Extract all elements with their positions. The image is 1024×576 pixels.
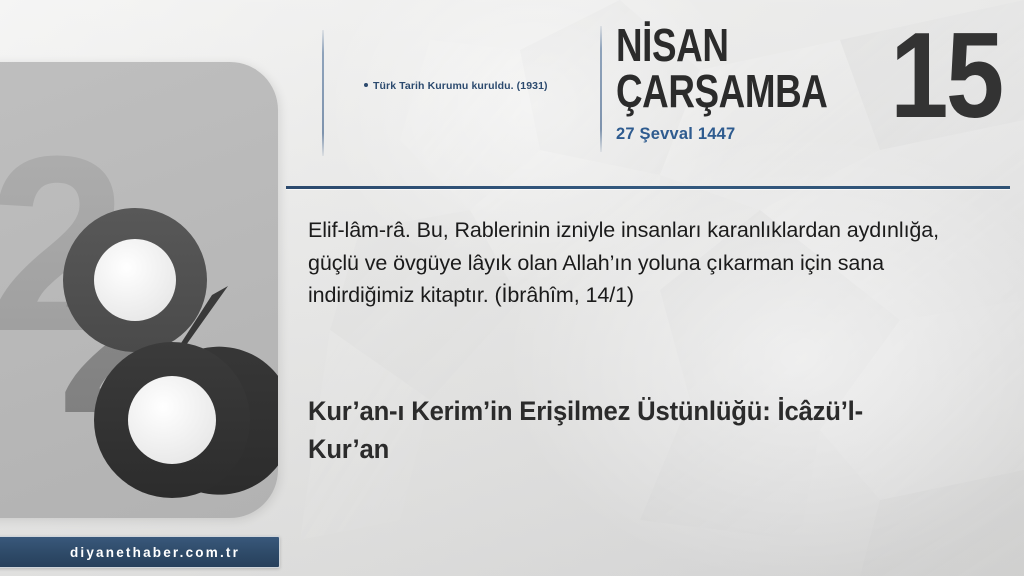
calendar-page: 2 2 Türk Tarih Kurumu kuruldu. (1931) Nİ… bbox=[0, 0, 1024, 576]
verse-text: Elif-lâm-râ. Bu, Rablerinin izniyle insa… bbox=[308, 214, 968, 312]
day-number: 15 bbox=[890, 14, 1002, 136]
date-block: NİSAN ÇARŞAMBA 27 Şevval 1447 bbox=[616, 24, 866, 144]
article-headline: Kur’an-ı Kerim’in Erişilmez Üstünlüğü: İ… bbox=[308, 392, 926, 469]
header-divider-left bbox=[322, 30, 324, 156]
header-divider-right bbox=[600, 26, 602, 152]
weekday-name: ÇARŞAMBA bbox=[616, 70, 816, 112]
month-name: NİSAN bbox=[616, 24, 816, 66]
bullet-icon bbox=[364, 83, 368, 87]
footer-url-text: diyanethaber.com.tr bbox=[34, 545, 240, 560]
year-logo-2026: 2 2 bbox=[0, 62, 278, 518]
event-note: Türk Tarih Kurumu kuruldu. (1931) bbox=[364, 80, 574, 94]
event-note-text: Türk Tarih Kurumu kuruldu. (1931) bbox=[373, 80, 548, 92]
section-divider bbox=[286, 186, 1010, 189]
footer-url-bar[interactable]: diyanethaber.com.tr bbox=[0, 536, 280, 568]
hijri-date: 27 Şevval 1447 bbox=[616, 125, 866, 144]
